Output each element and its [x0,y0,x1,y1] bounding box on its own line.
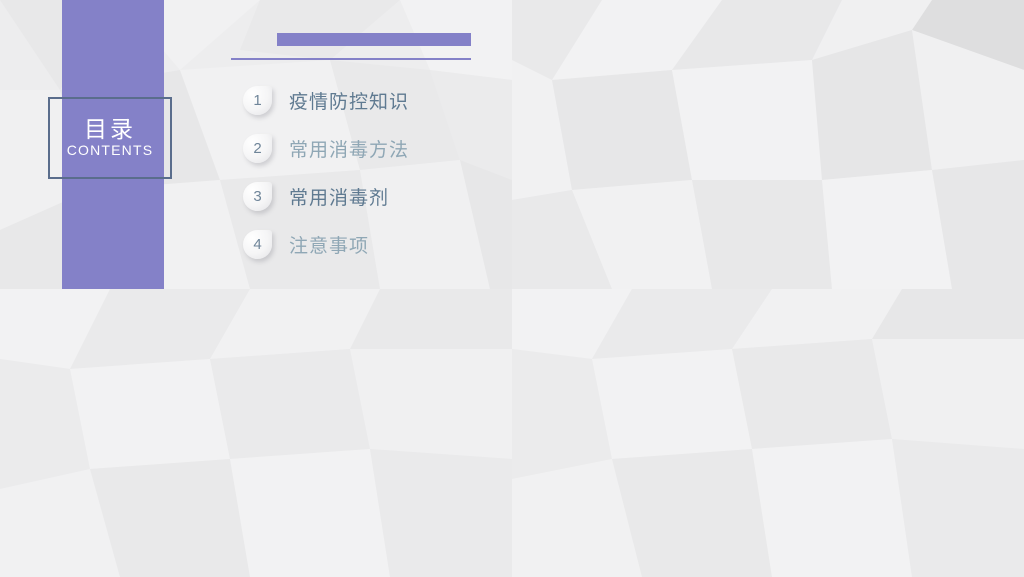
toc-item-4[interactable]: 4 注意事项 [243,220,503,268]
slide-table-of-contents: 目录 CONTENTS 1 疫情防控知识 2 常用消毒方法 3 常用消毒剂 4 … [0,0,512,289]
slide-content-meeting-canteen: 疫情防控知识 参加会议如何做 建议佩戴口罩，进入会议室前洗手消毒。开会人员间隔1… [512,289,1024,577]
polygon-background [0,289,512,577]
polygon-background [512,0,1024,289]
toc-item-label: 疫情防控知识 [289,87,409,114]
toc-number-badge: 4 [243,230,272,259]
toc-header-rule [231,58,471,60]
toc-item-2[interactable]: 2 常用消毒方法 [243,124,503,172]
toc-item-3[interactable]: 3 常用消毒剂 [243,172,503,220]
slide-section-divider: 疫情防控知识 01 PART [512,0,1024,289]
slide-content-commute-office: 疫情防控知识 上班途中如何做 正确佩戴一次性医用口罩。尽量不乘坐公共交通工具，建… [0,289,512,577]
contents-title-box: 目录 CONTENTS [48,97,172,179]
toc-list: 1 疫情防控知识 2 常用消毒方法 3 常用消毒剂 4 注意事项 [243,76,503,268]
toc-item-label: 注意事项 [289,231,369,258]
polygon-background [512,289,1024,577]
toc-item-label: 常用消毒剂 [289,183,389,210]
toc-number-badge: 3 [243,182,272,211]
toc-item-label: 常用消毒方法 [289,135,409,162]
contents-title-cn: 目录 [84,117,136,142]
slide-grid: 目录 CONTENTS 1 疫情防控知识 2 常用消毒方法 3 常用消毒剂 4 … [0,0,1024,577]
toc-header-bar [277,33,471,46]
toc-item-1[interactable]: 1 疫情防控知识 [243,76,503,124]
toc-number-badge: 1 [243,86,272,115]
contents-title-en: CONTENTS [67,142,154,160]
toc-number-badge: 2 [243,134,272,163]
